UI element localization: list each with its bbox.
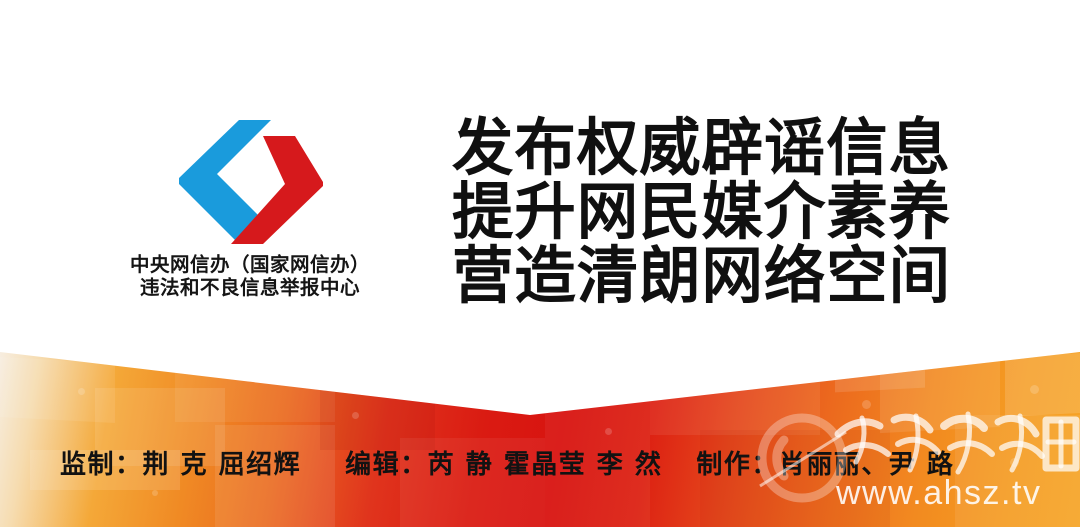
banner-dot [1010,458,1019,467]
banner-dot [1030,385,1039,394]
agency-name-line-2: 违法和不良信息举报中心 [95,277,405,300]
banner-dot [78,388,85,395]
banner-facet [835,350,925,393]
banner-facet [955,415,1080,527]
banner-dot [152,490,158,496]
banner-facet [215,425,335,527]
banner-facet [400,438,545,527]
banner-dot [605,428,612,435]
banner-facet [700,430,890,527]
slogan-line-2: 提升网民媒介素养 [452,180,947,244]
agency-logo-caption: 中央网信办（国家网信办） 违法和不良信息举报中心 [95,254,405,300]
cyberspace-administration-emblem-icon [175,118,327,246]
banner-facet [545,402,650,527]
agency-name-line-1: 中央网信办（国家网信办） [95,254,405,277]
banner-dot [352,412,359,419]
banner-facet [30,450,180,490]
bottom-banner [0,330,1080,527]
banner-facet [1005,353,1080,417]
slogan-line-3: 营造清朗网络空间 [452,244,947,308]
poster-root: 中央网信办（国家网信办） 违法和不良信息举报中心 发布权威辟谣信息 提升网民媒介… [0,0,1080,527]
slogan-block: 发布权威辟谣信息 提升网民媒介素养 营造清朗网络空间 [452,116,952,308]
agency-logo-block: 中央网信办（国家网信办） 违法和不良信息举报中心 [95,118,405,318]
banner-facet [650,370,820,435]
slogan-line-1: 发布权威辟谣信息 [452,116,947,180]
banner-dot [862,400,871,409]
banner-facet [175,372,335,422]
